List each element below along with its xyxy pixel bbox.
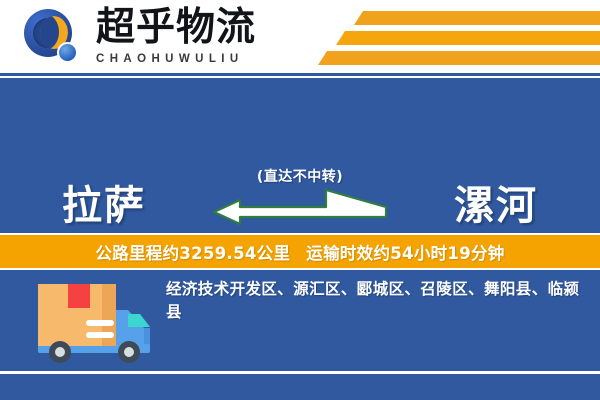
logistics-route-poster: 超乎物流 CHAOHUWULIU 拉萨 (直达不中转) 【往返运输】 漯河 公路… bbox=[0, 0, 600, 400]
circle-crescent-logo-icon bbox=[24, 9, 80, 65]
bidirectional-arrow-icon bbox=[210, 188, 390, 230]
destination-city: 漯河 bbox=[454, 173, 538, 231]
brand-name-cn: 超乎物流 bbox=[96, 6, 256, 50]
stats-bar: 公路里程约3259.54公里 运输时效约54小时19分钟 bbox=[0, 235, 600, 268]
orange-speed-stripes-icon bbox=[300, 8, 600, 68]
coverage-areas-text: 经济技术开发区、源汇区、郾城区、召陵区、舞阳县、临颍县 bbox=[166, 278, 582, 324]
direct-route-note: (直达不中转) bbox=[210, 166, 390, 186]
delivery-truck-icon bbox=[28, 278, 160, 366]
coverage-panel: 经济技术开发区、源汇区、郾城区、召陵区、舞阳县、临颍县 bbox=[0, 270, 600, 370]
route-panel: 拉萨 (直达不中转) 【往返运输】 漯河 bbox=[0, 78, 600, 235]
header-bar: 超乎物流 CHAOHUWULIU bbox=[0, 0, 600, 73]
brand-block: 超乎物流 CHAOHUWULIU bbox=[96, 6, 256, 67]
origin-city: 拉萨 bbox=[62, 173, 146, 231]
distance-text: 公路里程约3259.54公里 bbox=[95, 240, 290, 264]
brand-name-en: CHAOHUWULIU bbox=[96, 51, 256, 67]
footer-bar bbox=[0, 374, 600, 400]
logo-accent-dot bbox=[57, 42, 78, 63]
duration-text: 运输时效约54小时19分钟 bbox=[306, 240, 504, 264]
